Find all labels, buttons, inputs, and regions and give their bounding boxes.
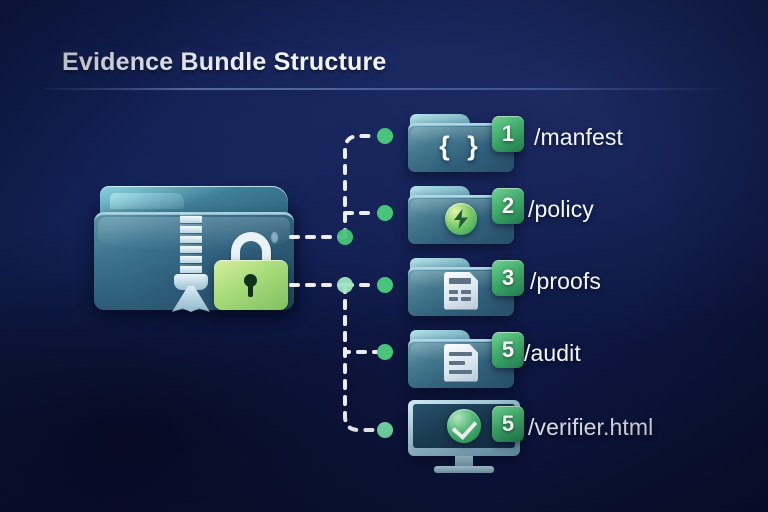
braces-icon: { } <box>439 131 483 162</box>
document-icon <box>444 344 478 382</box>
list-item-label: /proofs <box>530 268 601 295</box>
flash-icon <box>445 203 477 235</box>
zipper-tooth <box>180 246 202 253</box>
zipper-tooth <box>180 236 202 243</box>
status-badge: 3 <box>492 260 524 296</box>
list-item-label: /manfest <box>534 124 623 151</box>
zipper-tooth <box>180 216 202 223</box>
page-title: Evidence Bundle Structure <box>62 48 387 77</box>
list-item-label: /verifier.html <box>528 414 653 441</box>
status-badge: 1 <box>492 116 524 152</box>
status-badge: 5 <box>492 332 524 368</box>
evidence-bundle-diagram: Evidence Bundle Structure <box>0 0 768 512</box>
lightning-bolt-icon <box>452 209 470 229</box>
title-divider <box>44 88 722 90</box>
evidence-bundle-icon <box>92 186 298 310</box>
zipper-tooth <box>180 266 202 273</box>
padlock-icon <box>214 232 288 310</box>
zipper-tooth <box>180 226 202 233</box>
list-item-label: /audit <box>524 340 581 367</box>
monitor-base <box>434 466 494 473</box>
check-icon <box>447 409 481 443</box>
padlock-body <box>214 260 288 310</box>
list-item-label: /policy <box>528 196 594 223</box>
padlock-keyhole <box>244 274 257 287</box>
status-badge: 2 <box>492 188 524 224</box>
document-icon <box>444 272 478 310</box>
zipper-tooth <box>180 256 202 263</box>
status-badge: 5 <box>492 406 524 442</box>
